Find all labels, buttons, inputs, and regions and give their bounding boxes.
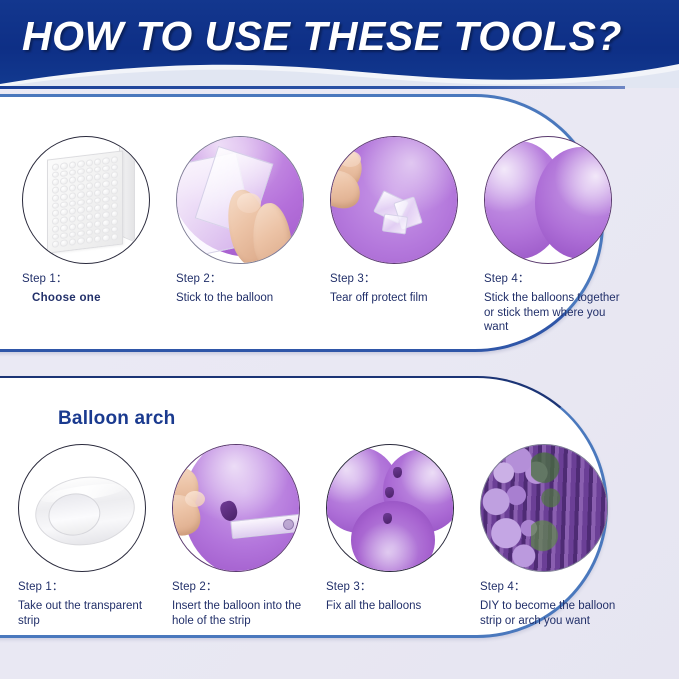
step-caption: Step 4： DIY to become the balloon strip … bbox=[480, 580, 628, 628]
step-card: Step 2： Insert the balloon into the hole… bbox=[168, 444, 320, 628]
step-caption: Step 1： Take out the transparent strip bbox=[18, 580, 166, 628]
step-image bbox=[326, 444, 454, 572]
glue-dot-sheet-icon bbox=[22, 136, 150, 264]
step-label: Step 4： bbox=[480, 580, 628, 595]
step-label: Step 1： bbox=[18, 580, 166, 595]
step-description: Insert the balloon into the hole of the … bbox=[172, 599, 320, 628]
step-image bbox=[480, 444, 608, 572]
step-label: Step 4： bbox=[484, 272, 632, 287]
step-image bbox=[22, 136, 150, 264]
header-wave-decoration bbox=[0, 54, 679, 88]
two-balloons-icon bbox=[484, 136, 612, 264]
step-card: Step 3： Tear off protect film bbox=[326, 136, 478, 335]
page-title: HOW TO USE THESE TOOLS? bbox=[22, 13, 622, 60]
step-image bbox=[484, 136, 612, 264]
step-card: Step 2： Stick to the balloon bbox=[172, 136, 324, 335]
step-label: Step 3： bbox=[330, 272, 478, 287]
step-label: Step 3： bbox=[326, 580, 474, 595]
transparent-strip-roll-icon bbox=[18, 444, 146, 572]
insert-balloon-into-strip-icon bbox=[172, 444, 300, 572]
step-card: Step 4： DIY to become the balloon strip … bbox=[476, 444, 628, 628]
step-caption: Step 2： Insert the balloon into the hole… bbox=[172, 580, 320, 628]
bottom-steps-row: Step 1： Take out the transparent strip S… bbox=[14, 444, 660, 628]
step-description: Stick the balloons together or stick the… bbox=[484, 291, 632, 335]
step-description: DIY to become the balloon strip or arch … bbox=[480, 599, 628, 628]
step-image bbox=[172, 444, 300, 572]
step-description: Fix all the balloons bbox=[326, 599, 474, 614]
step-caption: Step 3： Tear off protect film bbox=[330, 272, 478, 306]
step-label: Step 2： bbox=[176, 272, 324, 287]
step-description: Stick to the balloon bbox=[176, 291, 324, 306]
step-caption: Step 2： Stick to the balloon bbox=[176, 272, 324, 306]
step-card: Step 1： Choose one bbox=[18, 136, 170, 335]
top-steps-row: Step 1： Choose one Step 2： Stick to the … bbox=[18, 136, 658, 335]
three-balloons-fixed-icon bbox=[326, 444, 454, 572]
step-image bbox=[330, 136, 458, 264]
step-image bbox=[176, 136, 304, 264]
header-banner: HOW TO USE THESE TOOLS? bbox=[0, 0, 679, 88]
step-label: Step 1： bbox=[22, 272, 170, 287]
step-label: Step 2： bbox=[172, 580, 320, 595]
step-caption: Step 4： Stick the balloons together or s… bbox=[484, 272, 632, 335]
step-caption: Step 1： Choose one bbox=[22, 272, 170, 306]
step-card: Step 1： Take out the transparent strip bbox=[14, 444, 166, 628]
hand-sticking-dot-icon bbox=[176, 136, 304, 264]
peeling-film-icon bbox=[330, 136, 458, 264]
step-card: Step 4： Stick the balloons together or s… bbox=[480, 136, 632, 335]
section-title-balloon-arch: Balloon arch bbox=[58, 408, 175, 430]
step-image bbox=[18, 444, 146, 572]
step-caption: Step 3： Fix all the balloons bbox=[326, 580, 474, 614]
poster-page: HOW TO USE THESE TOOLS? bbox=[0, 0, 679, 679]
step-description: Take out the transparent strip bbox=[18, 599, 166, 628]
finished-balloon-arch-icon bbox=[480, 444, 608, 572]
step-description: Choose one bbox=[32, 291, 170, 306]
header-underline bbox=[0, 86, 625, 89]
step-card: Step 3： Fix all the balloons bbox=[322, 444, 474, 628]
step-description: Tear off protect film bbox=[330, 291, 478, 306]
